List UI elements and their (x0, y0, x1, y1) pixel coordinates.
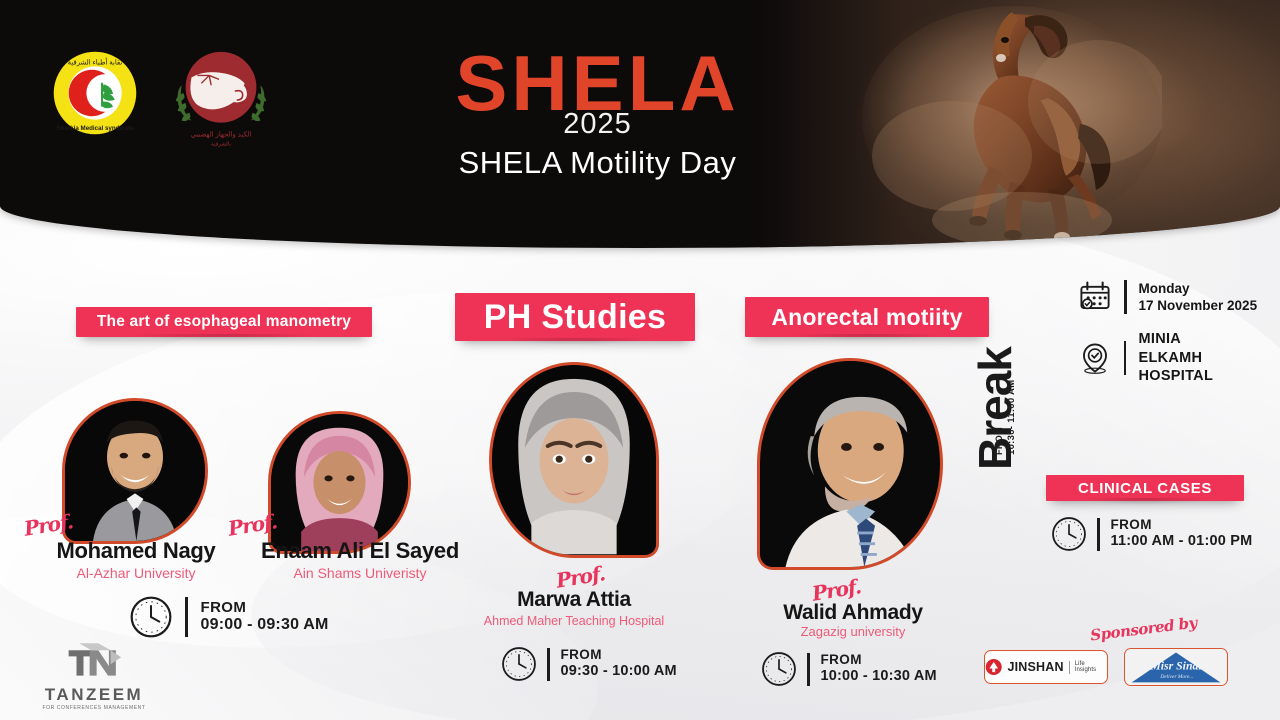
divider (1097, 518, 1100, 551)
break-from-label: FROM (994, 427, 1004, 455)
tanzeem-mark-icon (63, 638, 125, 680)
divider (1069, 661, 1070, 674)
session-from-label-3: FROM (821, 652, 937, 668)
clock-icon (1050, 515, 1088, 553)
location-pin-icon (1078, 341, 1112, 375)
event-date-full: 17 November 2025 (1139, 297, 1258, 314)
break-time: 10:30- 11:00 AM (1006, 380, 1017, 455)
event-date-day: Monday (1139, 280, 1258, 297)
event-date-row: Monday 17 November 2025 (1078, 280, 1257, 315)
section-banner-manometry: The art of esophageal manometry (76, 307, 372, 337)
sponsor-logo-jinshan: JINSHAN Life Insights (984, 650, 1108, 684)
divider (547, 648, 550, 681)
misr-sinai-mark-icon: Misr Sinai Deliver More... (1126, 648, 1226, 686)
session-time-row-2: FROM 09:30 - 10:00 AM (500, 645, 677, 683)
session-from-label-4: FROM (1111, 517, 1253, 533)
speaker-photo-enaam-ali-el-sayed (268, 411, 411, 554)
section-banner-anorectal: Anorectal motiity (745, 297, 989, 337)
organizer-logo-tanzeem: TANZEEM FOR CONFERENCES MANAGEMENT (36, 638, 152, 708)
speaker-affiliation-mohamed-nagy: Al-Azhar University (28, 565, 244, 581)
event-venue-row: MINIA ELKAMH HOSPITAL (1078, 330, 1280, 386)
divider (807, 653, 810, 686)
session-time-4: 11:00 AM - 01:00 PM (1111, 533, 1253, 550)
section-banner-ph-studies-label: PH Studies (484, 298, 666, 337)
event-subtitle: SHELA Motility Day (0, 145, 1195, 181)
clock-icon (760, 650, 798, 688)
speaker-affiliation-enaam-ali-el-sayed: Ain Shams Univeristy (222, 565, 498, 581)
divider (1124, 280, 1127, 314)
speaker-photo-walid-ahmady (757, 358, 943, 570)
sponsor-name-misr-sinai: Misr Sinai (1149, 660, 1202, 673)
speaker-photo-marwa-attia (489, 362, 659, 558)
section-banner-anorectal-label: Anorectal motiity (771, 304, 962, 331)
sponsor-tagline-jinshan: Life Insights (1075, 661, 1107, 673)
session-time-row-1: FROM 09:00 - 09:30 AM (128, 594, 329, 640)
calendar-icon (1078, 280, 1112, 314)
sponsor-logo-misr-sinai: Misr Sinai Deliver More... (1124, 648, 1228, 686)
jinshan-mark-icon (985, 658, 1002, 676)
divider (1124, 341, 1126, 375)
conference-poster: Sharkia Medical syndicate نقابة أطباء ال… (0, 0, 1280, 720)
event-venue-line2: ELKAMH HOSPITAL (1138, 349, 1280, 386)
speaker-name-walid-ahmady: Walid Ahmady (740, 601, 966, 625)
speaker-name-enaam-ali-el-sayed: Enaam Ali El Sayed (222, 538, 498, 564)
sponsor-name-jinshan: JINSHAN (1007, 660, 1063, 674)
event-year: 2025 (0, 108, 1195, 141)
speaker-affiliation-marwa-attia: Ahmed Maher Teaching Hospital (446, 614, 702, 628)
event-venue-line1: MINIA (1138, 330, 1280, 349)
session-time-row-4: FROM 11:00 AM - 01:00 PM (1050, 515, 1252, 553)
clock-icon (500, 645, 538, 683)
session-from-label-2: FROM (561, 647, 677, 663)
speaker-name-mohamed-nagy: Mohamed Nagy (28, 538, 244, 564)
section-banner-clinical-cases: CLINICAL CASES (1046, 475, 1244, 501)
session-time-row-3: FROM 10:00 - 10:30 AM (760, 650, 937, 688)
section-banner-ph-studies: PH Studies (455, 293, 695, 341)
session-from-label-1: FROM (201, 599, 329, 617)
clock-icon (128, 594, 174, 640)
speaker-photo-mohamed-nagy (62, 398, 208, 544)
section-banner-clinical-cases-label: CLINICAL CASES (1078, 480, 1212, 497)
poster-header: Sharkia Medical syndicate نقابة أطباء ال… (0, 0, 1280, 248)
speaker-affiliation-walid-ahmady: Zagazig university (740, 624, 966, 639)
session-time-2: 09:30 - 10:00 AM (561, 663, 677, 680)
speaker-name-marwa-attia: Marwa Attia (466, 588, 682, 612)
session-time-3: 10:00 - 10:30 AM (821, 668, 937, 685)
session-time-1: 09:00 - 09:30 AM (201, 616, 329, 635)
organizer-name: TANZEEM (36, 685, 152, 705)
section-banner-manometry-label: The art of esophageal manometry (97, 313, 351, 331)
organizer-tagline: FOR CONFERENCES MANAGEMENT (36, 705, 152, 711)
divider (185, 597, 188, 637)
sponsor-tagline-misr-sinai: Deliver More... (1159, 674, 1193, 680)
